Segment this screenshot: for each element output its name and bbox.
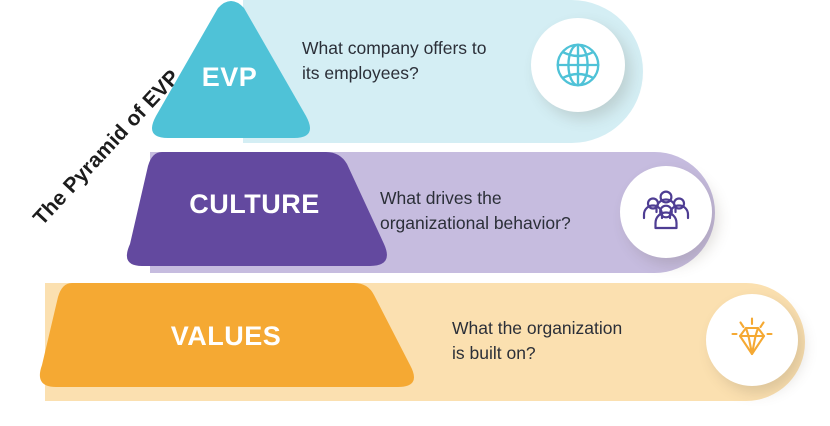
- description-culture: What drives the organizational behavior?: [380, 186, 571, 237]
- icon-badge-values: [706, 294, 798, 386]
- icon-badge-evp: [531, 18, 625, 112]
- icon-badge-culture: [620, 166, 712, 258]
- diamond-icon: [726, 314, 778, 366]
- people-group-icon: [640, 186, 692, 238]
- description-evp: What company offers to its employees?: [302, 36, 487, 87]
- shape-values-trapezoid: [40, 283, 422, 401]
- globe-icon: [551, 38, 605, 92]
- pyramid-of-evp-diagram: EVP CULTURE VALUES What company offers t…: [0, 0, 830, 426]
- shape-culture-trapezoid: [128, 152, 390, 274]
- description-values: What the organization is built on?: [452, 316, 622, 367]
